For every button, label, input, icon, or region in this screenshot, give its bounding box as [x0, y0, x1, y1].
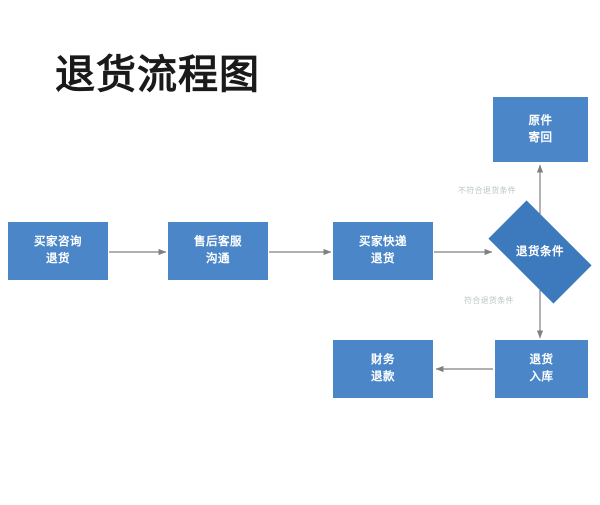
node-return-condition[interactable]: 退货条件: [494, 225, 586, 279]
node-send-original-back[interactable]: 原件 寄回: [493, 97, 588, 162]
flowchart-canvas: 退货流程图 买家咨询 退货 售后客服 沟通 买家快递 退货 退货条件 原件 寄回…: [0, 0, 600, 505]
edge-label-eligible: 符合退货条件: [464, 295, 514, 306]
node-after-sales-service[interactable]: 售后客服 沟通: [168, 222, 268, 280]
node-return-to-warehouse[interactable]: 退货 入库: [495, 340, 588, 398]
node-finance-refund[interactable]: 财务 退款: [333, 340, 433, 398]
node-after-sales-service-label: 售后客服 沟通: [194, 234, 242, 267]
node-buyer-inquiry-label: 买家咨询 退货: [34, 234, 82, 267]
node-return-to-warehouse-label: 退货 入库: [530, 352, 554, 385]
node-send-original-back-label: 原件 寄回: [529, 113, 553, 146]
edge-label-not-eligible: 不符合退货条件: [458, 185, 516, 196]
node-buyer-ship-return-label: 买家快递 退货: [359, 234, 407, 267]
node-buyer-inquiry[interactable]: 买家咨询 退货: [8, 222, 108, 280]
node-return-condition-label: 退货条件: [516, 244, 564, 261]
node-buyer-ship-return[interactable]: 买家快递 退货: [333, 222, 433, 280]
node-finance-refund-label: 财务 退款: [371, 352, 395, 385]
